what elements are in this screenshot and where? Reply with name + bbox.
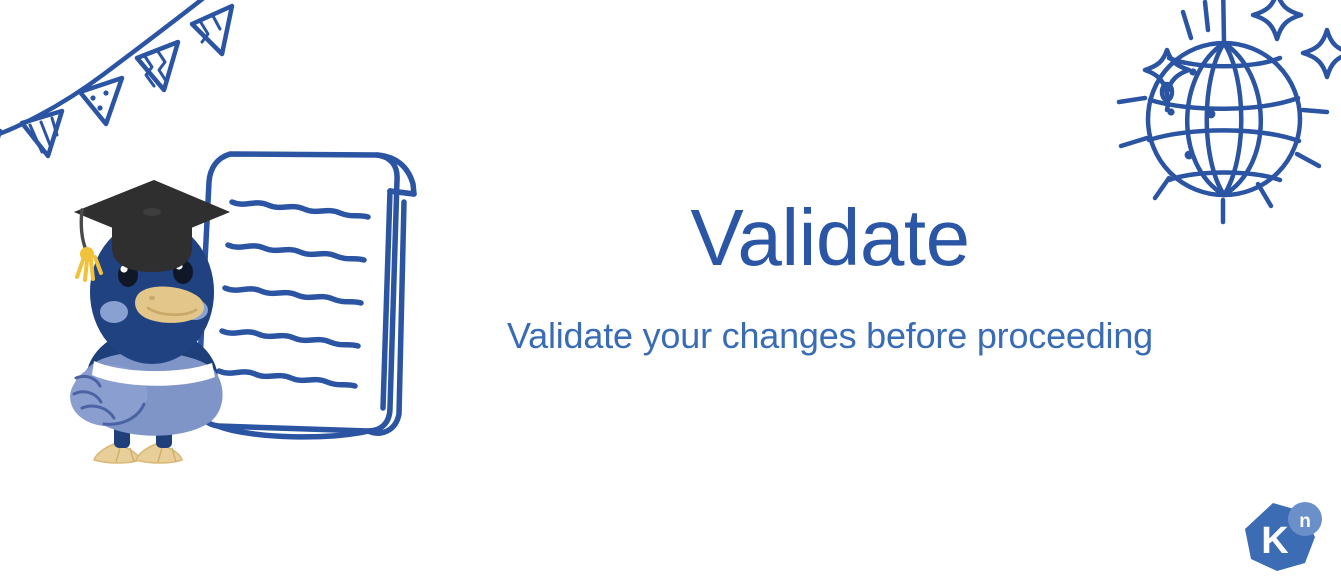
- page-subtitle: Validate your changes before proceeding: [470, 314, 1190, 357]
- page-title: Validate: [470, 196, 1190, 280]
- logo-badge-letter: n: [1299, 511, 1311, 532]
- slide-canvas: Validate Validate your changes before pr…: [0, 0, 1341, 585]
- diploma-scroll-icon: [198, 154, 414, 437]
- brand-logo: K n: [1239, 497, 1325, 575]
- logo-primary-letter: K: [1261, 520, 1289, 562]
- text-block: Validate Validate your changes before pr…: [470, 196, 1190, 357]
- graduate-bird-with-scroll-illustration: [52, 132, 472, 472]
